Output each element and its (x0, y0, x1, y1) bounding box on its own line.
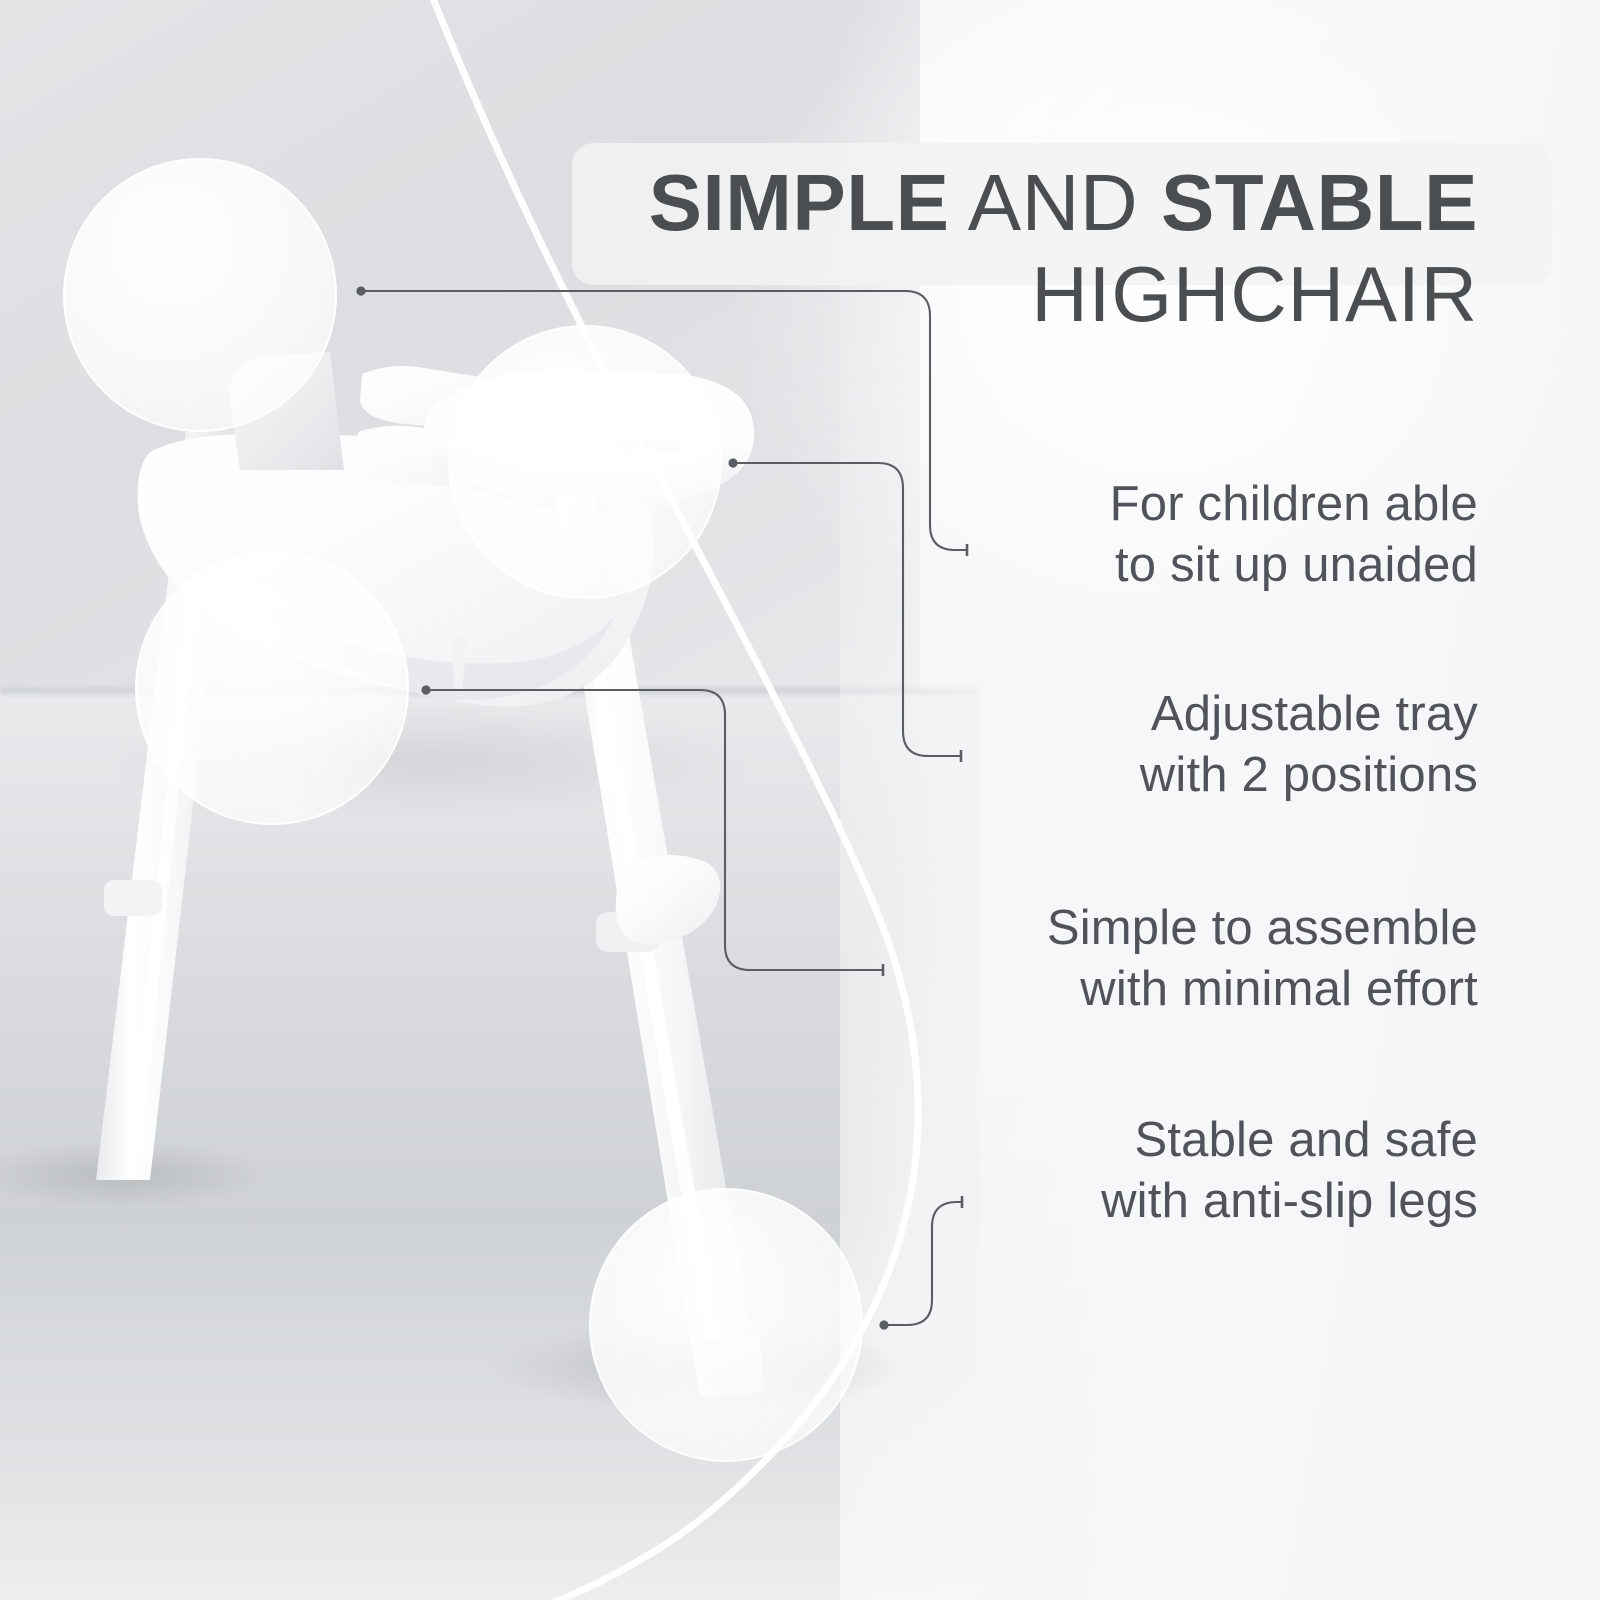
connector-dot-4 (879, 1320, 888, 1329)
feature-1-line-1: For children able (758, 474, 1478, 535)
feature-adjustable-tray: Adjustable tray with 2 positions (758, 684, 1478, 806)
page-title: SIMPLE AND STABLE HIGHCHAIR (520, 160, 1478, 342)
title-word-stable: STABLE (1161, 158, 1478, 247)
title-line-2: HIGHCHAIR (520, 246, 1478, 342)
feature-2-line-1: Adjustable tray (758, 684, 1478, 745)
infographic-canvas: SIMPLE AND STABLE HIGHCHAIR For children… (0, 0, 1600, 1600)
connector-dot-1 (356, 286, 365, 295)
connector-dot-3 (421, 685, 430, 694)
feature-anti-slip-legs: Stable and safe with anti-slip legs (758, 1110, 1478, 1232)
title-word-and: AND (949, 158, 1160, 247)
title-line-1: SIMPLE AND STABLE (520, 160, 1478, 246)
connector-dot-2 (728, 458, 737, 467)
feature-3-line-2: with minimal effort (758, 959, 1478, 1020)
feature-1-line-2: to sit up unaided (758, 535, 1478, 596)
title-word-simple: SIMPLE (649, 158, 950, 247)
feature-2-line-2: with 2 positions (758, 745, 1478, 806)
feature-sit-up-unaided: For children able to sit up unaided (758, 474, 1478, 596)
feature-4-line-1: Stable and safe (758, 1110, 1478, 1171)
feature-simple-assembly: Simple to assemble with minimal effort (758, 898, 1478, 1020)
feature-3-line-1: Simple to assemble (758, 898, 1478, 959)
feature-4-line-2: with anti-slip legs (758, 1171, 1478, 1232)
